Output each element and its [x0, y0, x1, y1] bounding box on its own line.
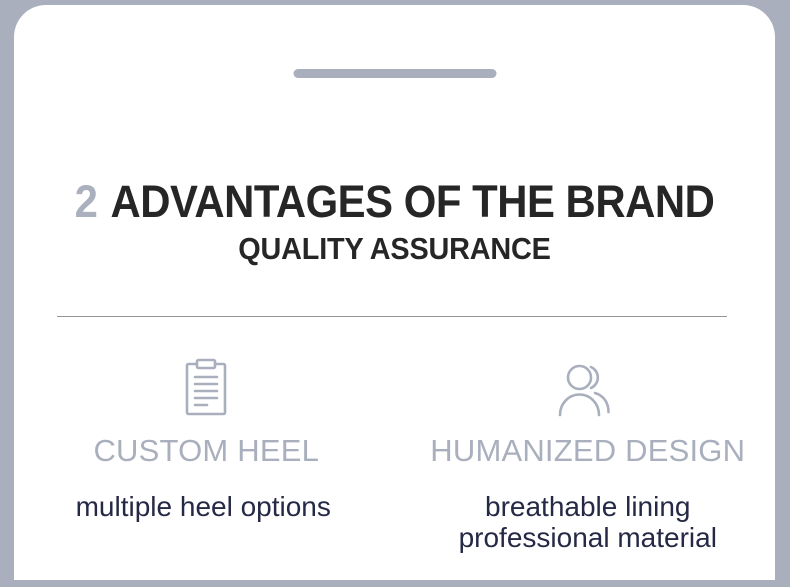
page-root: 2ADVANTAGES OF THE BRAND QUALITY ASSURAN…: [0, 0, 790, 587]
feature-label-custom-heel: CUSTOM HEEL: [16, 433, 397, 469]
features-row: CUSTOM HEEL multiple heel options HUMANI…: [14, 357, 775, 553]
heading-block: 2ADVANTAGES OF THE BRAND QUALITY ASSURAN…: [14, 177, 775, 269]
header-divider: [57, 316, 727, 317]
section-number: 2: [75, 176, 98, 227]
feature-description-line: multiple heel options: [14, 491, 394, 522]
feature-label-humanized-design: HUMANIZED DESIGN: [398, 433, 776, 469]
feature-description-custom-heel: multiple heel options: [14, 491, 394, 522]
top-handle-bar: [293, 69, 496, 78]
feature-description-line: professional material: [398, 522, 776, 553]
page-title: 2ADVANTAGES OF THE BRAND: [41, 177, 749, 227]
clipboard-icon: [16, 357, 397, 419]
feature-custom-heel: CUSTOM HEEL multiple heel options: [14, 357, 395, 522]
page-subtitle: QUALITY ASSURANCE: [41, 229, 749, 269]
content-card: 2ADVANTAGES OF THE BRAND QUALITY ASSURAN…: [14, 5, 775, 580]
feature-description-line: breathable lining: [398, 491, 776, 522]
users-icon: [396, 357, 776, 419]
feature-humanized-design: HUMANIZED DESIGN breathable lining profe…: [395, 357, 776, 553]
feature-description-humanized-design: breathable lining professional material: [398, 491, 776, 553]
page-title-text: ADVANTAGES OF THE BRAND: [110, 176, 714, 227]
